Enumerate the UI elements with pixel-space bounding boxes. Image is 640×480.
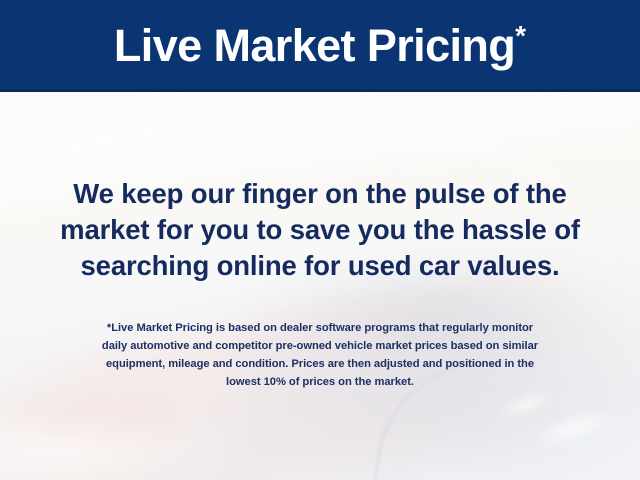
disclaimer-line-4: lowest 10% of prices on the market. <box>28 373 612 391</box>
live-market-pricing-slide: Live Market Pricing* We keep our finger … <box>0 0 640 480</box>
headline-line-3: searching online for used car values. <box>28 248 612 284</box>
headline: We keep our finger on the pulse of the m… <box>28 176 612 284</box>
disclaimer-line-1: *Live Market Pricing is based on dealer … <box>28 319 612 337</box>
disclaimer-text: *Live Market Pricing is based on dealer … <box>28 319 612 391</box>
headline-line-1: We keep our finger on the pulse of the <box>28 176 612 212</box>
headline-line-2: market for you to save you the hassle of <box>28 212 612 248</box>
content-area: We keep our finger on the pulse of the m… <box>0 92 640 480</box>
disclaimer-line-2: daily automotive and competitor pre-owne… <box>28 337 612 355</box>
page-title-text: Live Market Pricing <box>114 20 515 71</box>
disclaimer-line-3: equipment, mileage and condition. Prices… <box>28 355 612 373</box>
page-title: Live Market Pricing* <box>114 23 526 70</box>
title-asterisk: * <box>515 20 526 51</box>
header-banner: Live Market Pricing* <box>0 0 640 92</box>
